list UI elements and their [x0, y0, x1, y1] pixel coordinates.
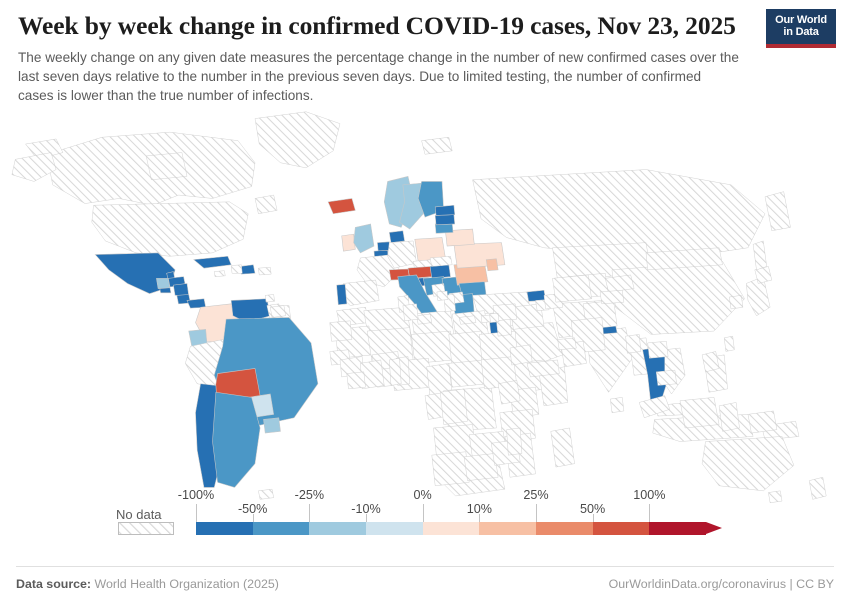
map-country-trinidad[interactable]: [265, 295, 274, 303]
owid-logo-line1: Our World: [775, 15, 827, 27]
map-country-greenland[interactable]: [255, 112, 340, 168]
map-country-puerto-rico[interactable]: [258, 268, 271, 276]
legend-tick-label-6: 25%: [523, 488, 548, 502]
map-country-argentina[interactable]: [213, 393, 261, 488]
legend-tick-label-5: 10%: [467, 502, 492, 516]
map-country-latvia[interactable]: [435, 215, 455, 225]
legend-tick-label-1: -50%: [238, 502, 267, 516]
map-country-madagascar[interactable]: [551, 428, 575, 467]
map-country-uganda[interactable]: [498, 381, 520, 405]
map-country-namibia[interactable]: [432, 452, 469, 486]
map-legend: No data -100%-50%-25%-10%0%10%25%50%100%: [0, 500, 850, 566]
map-country-guyana-shield[interactable]: [270, 306, 285, 318]
map-country-sulawesi[interactable]: [719, 403, 739, 432]
legend-tick-6: [536, 504, 537, 522]
footer-source-name: World Health Organization (2025): [95, 577, 279, 591]
map-country-bangladesh[interactable]: [626, 335, 641, 354]
map-country-congo[interactable]: [440, 389, 467, 425]
map-country-portugal[interactable]: [337, 285, 347, 305]
owid-logo-line2: in Data: [783, 27, 818, 39]
footer-source-prefix: Data source:: [16, 577, 91, 591]
map-country-south-korea[interactable]: [729, 296, 743, 310]
chart-footer: Data source: World Health Organization (…: [16, 566, 834, 600]
chart-subtitle: The weekly change on any given date meas…: [18, 48, 740, 106]
legend-tick-label-7: 50%: [580, 502, 605, 516]
map-country-niger[interactable]: [411, 331, 454, 363]
map-country-denmark[interactable]: [389, 231, 404, 243]
legend-bin-6[interactable]: [536, 522, 593, 535]
map-country-united-states[interactable]: [92, 202, 248, 256]
map-country-kamchatka[interactable]: [765, 192, 791, 231]
page-title: Week by week change in confirmed COVID-1…: [18, 12, 834, 41]
map-country-estonia[interactable]: [435, 206, 455, 216]
map-country-western-sahara[interactable]: [330, 321, 352, 341]
legend-no-data-swatch: [118, 522, 174, 535]
map-country-turkmenistan[interactable]: [553, 275, 592, 302]
legend-tick-label-2: -25%: [295, 488, 324, 502]
map-country-china[interactable]: [612, 262, 745, 335]
legend-tick-0: [196, 504, 197, 522]
map-country-georgia[interactable]: [527, 291, 546, 302]
footer-source: Data source: World Health Organization (…: [16, 577, 279, 591]
map-country-australia[interactable]: [702, 437, 794, 491]
map-country-jamaica[interactable]: [214, 271, 225, 277]
legend-tick-4: [423, 504, 424, 522]
legend-tick-8: [649, 504, 650, 522]
map-country-new-zealand[interactable]: [809, 478, 826, 500]
legend-tick-label-4: 0%: [414, 488, 432, 502]
map-country-eritrea[interactable]: [510, 345, 532, 365]
map-country-alaska[interactable]: [12, 153, 56, 182]
legend-no-data-label: No data: [116, 507, 162, 522]
owid-grapher-map: Week by week change in confirmed COVID-1…: [0, 0, 850, 600]
map-country-new-guinea-west[interactable]: [748, 411, 777, 433]
footer-attribution[interactable]: OurWorldinData.org/coronavirus | CC BY: [609, 577, 834, 591]
map-country-tajikistan[interactable]: [600, 291, 624, 305]
map-country-luzon[interactable]: [702, 352, 719, 372]
legend-color-bar[interactable]: [196, 522, 706, 535]
map-country-iceland[interactable]: [328, 199, 355, 214]
map-country-moldova[interactable]: [486, 259, 498, 271]
legend-bin-5[interactable]: [479, 522, 536, 535]
map-country-sri-lanka[interactable]: [610, 398, 624, 413]
map-country-hudson-bay-hole[interactable]: [146, 153, 187, 180]
map-country-borneo[interactable]: [680, 398, 719, 429]
map-country-sicily[interactable]: [417, 314, 432, 324]
legend-tick-label-0: -100%: [178, 488, 214, 502]
map-country-sakhalin[interactable]: [753, 241, 767, 270]
legend-bin-2[interactable]: [309, 522, 366, 535]
map-country-nicaragua[interactable]: [173, 284, 188, 296]
legend-tick-label-8: 100%: [633, 488, 665, 502]
legend-bin-7[interactable]: [593, 522, 650, 535]
map-country-liberia[interactable]: [347, 372, 366, 389]
map-country-slovakia[interactable]: [430, 257, 452, 267]
legend-bin-1[interactable]: [253, 522, 310, 535]
map-country-malawi[interactable]: [507, 428, 522, 455]
legend-arrow-cap: [706, 522, 722, 534]
map-country-taiwan[interactable]: [724, 337, 734, 352]
map-country-uruguay[interactable]: [264, 418, 281, 433]
map-country-crete[interactable]: [459, 316, 476, 325]
legend-bin-0[interactable]: [196, 522, 253, 535]
map-country-germany[interactable]: [388, 241, 417, 268]
map-country-newfoundland[interactable]: [255, 195, 277, 214]
map-country-cambodia[interactable]: [656, 371, 676, 386]
map-country-falklands[interactable]: [258, 490, 273, 500]
legend-tick-label-3: -10%: [351, 502, 380, 516]
legend-tick-2: [309, 504, 310, 522]
map-country-laos[interactable]: [648, 342, 668, 359]
legend-bin-8[interactable]: [649, 522, 706, 535]
legend-bin-4[interactable]: [423, 522, 480, 535]
map-country-hungary[interactable]: [430, 265, 450, 279]
map-country-united-kingdom[interactable]: [354, 224, 374, 253]
map-country-togo[interactable]: [389, 359, 401, 386]
legend-bin-3[interactable]: [366, 522, 423, 535]
chart-header: Week by week change in confirmed COVID-1…: [0, 0, 850, 105]
owid-logo[interactable]: Our World in Data: [766, 9, 836, 48]
map-country-el-salvador[interactable]: [160, 288, 171, 293]
map-country-cuba[interactable]: [194, 257, 231, 269]
map-country-svalbard[interactable]: [422, 138, 453, 155]
map-country-botswana[interactable]: [464, 454, 498, 481]
map-country-guatemala[interactable]: [156, 279, 170, 289]
map-country-lebanon[interactable]: [490, 314, 499, 323]
map-country-haiti[interactable]: [231, 265, 242, 274]
map-area[interactable]: [0, 105, 850, 500]
map-country-ireland[interactable]: [342, 235, 356, 252]
map-country-panama[interactable]: [187, 299, 206, 308]
map-country-uae[interactable]: [558, 338, 577, 350]
legend-no-data[interactable]: No data: [118, 522, 174, 535]
map-country-tunisia[interactable]: [403, 304, 418, 321]
world-choropleth-svg[interactable]: [0, 103, 850, 503]
map-country-montenegro[interactable]: [437, 292, 448, 301]
